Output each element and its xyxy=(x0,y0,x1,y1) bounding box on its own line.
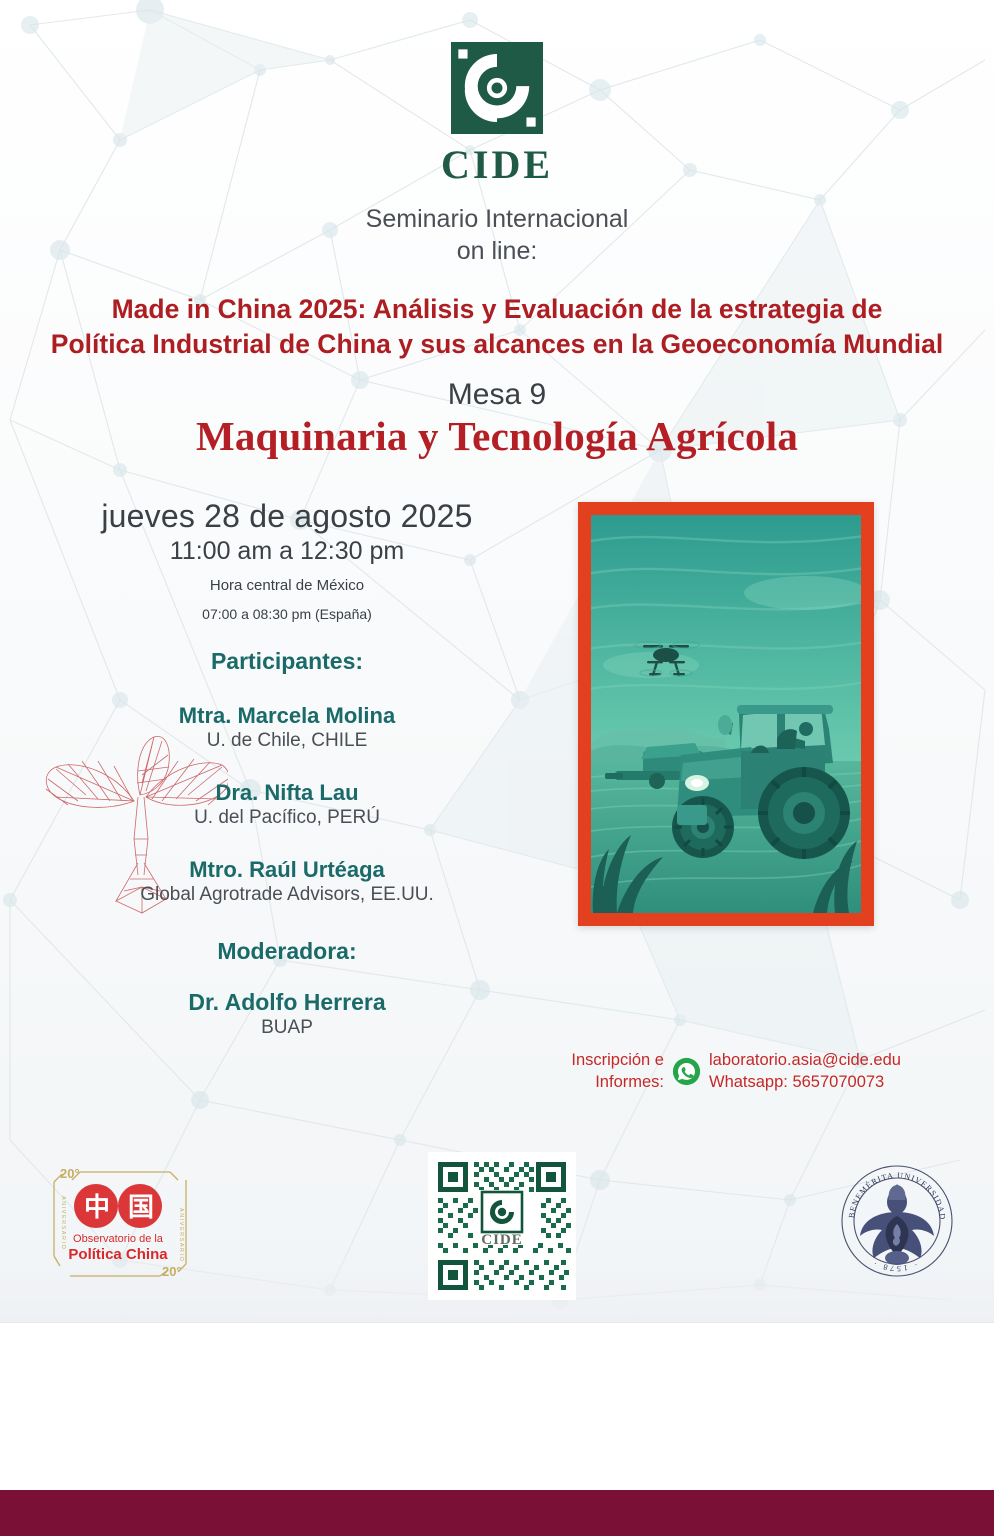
moderator-name: Dr. Adolfo Herrera xyxy=(20,989,554,1016)
anniversary-vertical-right: ANIVERSARIO xyxy=(178,1208,184,1262)
contact-email[interactable]: laboratorio.asia@cide.edu xyxy=(709,1051,901,1069)
observatorio-line-1: Observatorio de la xyxy=(73,1233,164,1245)
qr-center-label: CIDE xyxy=(481,1232,523,1248)
observatorio-politica-china-logo: 20° 20° ANIVERSARIO ANIVERSARIO 中 国 Obse… xyxy=(40,1158,200,1286)
contact-label: Inscripción e Informes: xyxy=(556,1050,664,1094)
contact-whatsapp[interactable]: Whatsapp: 5657070073 xyxy=(709,1073,884,1091)
moderator-heading: Moderadora: xyxy=(20,938,554,965)
observatorio-line-2: Política China xyxy=(68,1246,168,1263)
whatsapp-icon[interactable] xyxy=(672,1057,701,1086)
seminar-title-line-1: Made in China 2025: Análisis y Evaluació… xyxy=(47,292,947,327)
mesa-label: Mesa 9 xyxy=(0,378,994,412)
poster-canvas: CIDE Seminario Internacional on line: Ma… xyxy=(0,0,994,1536)
moderator-affiliation: BUAP xyxy=(20,1017,554,1039)
footer-band: ESTADOS UNIDOS MEXICANOS Ciencia y Tecno… xyxy=(0,1322,994,1491)
anniversary-top: 20° xyxy=(60,1166,80,1181)
seminar-title: Made in China 2025: Análisis y Evaluació… xyxy=(47,292,947,362)
seminar-line-1: Seminario Internacional xyxy=(0,203,994,235)
event-date: jueves 28 de agosto 2025 xyxy=(20,498,554,535)
event-timezone-alt: 07:00 a 08:30 pm (España) xyxy=(20,606,554,622)
participant-name: Mtra. Marcela Molina xyxy=(20,703,554,729)
participant-affiliation: U. del Pacífico, PERÚ xyxy=(20,807,554,829)
contact-label-line-2: Informes: xyxy=(595,1073,664,1091)
event-details-column: jueves 28 de agosto 2025 11:00 am a 12:3… xyxy=(20,498,554,1039)
tractor-illustration xyxy=(591,515,861,913)
contact-label-line-1: Inscripción e xyxy=(571,1051,664,1069)
seminar-title-line-2: Política Industrial de China y sus alcan… xyxy=(47,327,947,362)
participant-item: Mtra. Marcela Molina U. de Chile, CHILE xyxy=(20,703,554,752)
cide-header-logo: CIDE xyxy=(0,42,994,185)
seminar-subtitle: Seminario Internacional on line: xyxy=(0,203,994,267)
artwork-frame xyxy=(578,502,874,926)
participant-affiliation: U. de Chile, CHILE xyxy=(20,730,554,752)
cide-spiral-icon xyxy=(451,42,543,134)
chinese-char-1: 中 xyxy=(84,1193,110,1223)
cide-wordmark: CIDE xyxy=(0,145,994,185)
bottom-color-bar xyxy=(0,1490,994,1536)
chinese-char-2: 国 xyxy=(128,1193,154,1223)
anniversary-vertical-left: ANIVERSARIO xyxy=(60,1196,66,1250)
participants-heading: Participantes: xyxy=(20,648,554,675)
participant-name: Mtro. Raúl Urtéaga xyxy=(20,857,554,883)
anniversary-bottom: 20° xyxy=(162,1264,182,1279)
participant-name: Dra. Nifta Lau xyxy=(20,780,554,806)
contact-details: laboratorio.asia@cide.edu Whatsapp: 5657… xyxy=(709,1050,901,1094)
event-time: 11:00 am a 12:30 pm xyxy=(20,537,554,566)
event-timezone: Hora central de México xyxy=(20,577,554,594)
contact-block: Inscripción e Informes: laboratorio.asia… xyxy=(556,1050,976,1094)
qr-code[interactable]: CIDE xyxy=(428,1152,576,1300)
buap-seal: BENEMÉRITA UNIVERSIDAD AUTÓNOMA DE PUEBL… xyxy=(834,1158,960,1284)
participant-item: Dra. Nifta Lau U. del Pacífico, PERÚ xyxy=(20,780,554,829)
seminar-line-2: on line: xyxy=(0,235,994,267)
participant-item: Mtro. Raúl Urtéaga Global Agrotrade Advi… xyxy=(20,857,554,906)
mesa-title: Maquinaria y Tecnología Agrícola xyxy=(0,412,994,460)
participant-affiliation: Global Agrotrade Advisors, EE.UU. xyxy=(20,884,554,906)
